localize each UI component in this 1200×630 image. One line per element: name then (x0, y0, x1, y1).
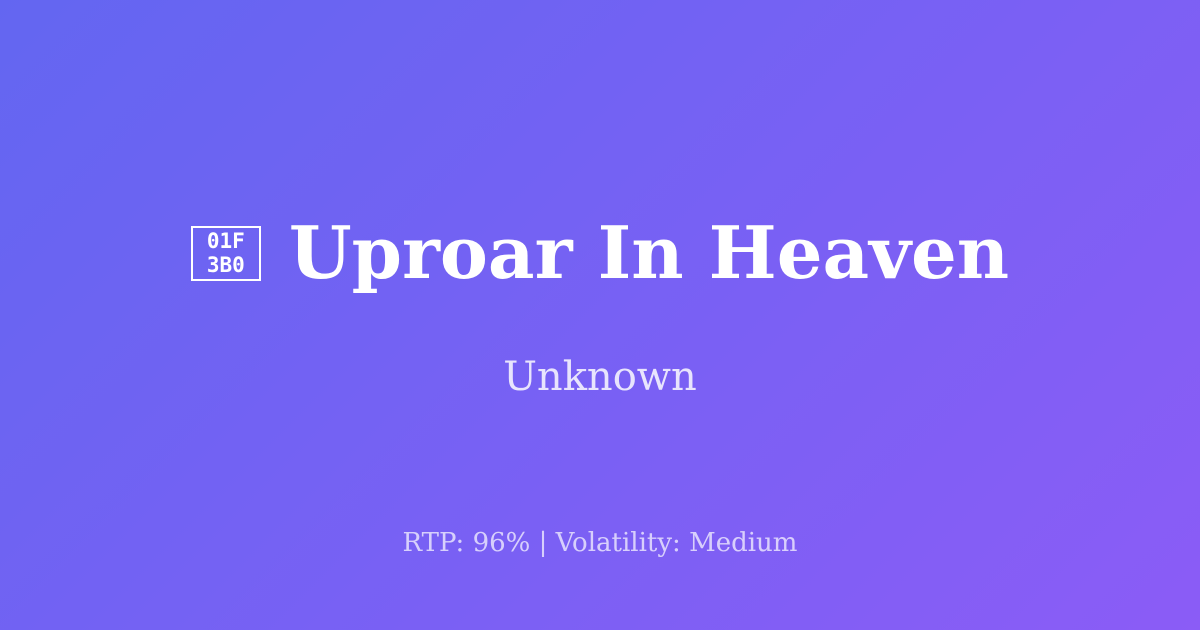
title-row: 01F 3B0 Uproar In Heaven (191, 215, 1009, 291)
slot-machine-icon: 01F 3B0 (191, 226, 261, 281)
slot-machine-icon-codepoint-top: 01F (207, 229, 245, 253)
provider-subtitle: Unknown (503, 353, 697, 401)
page-title: Uproar In Heaven (289, 215, 1009, 291)
slot-machine-icon-codepoint-bottom: 3B0 (207, 253, 245, 277)
game-stats-line: RTP: 96% | Volatility: Medium (0, 528, 1200, 559)
